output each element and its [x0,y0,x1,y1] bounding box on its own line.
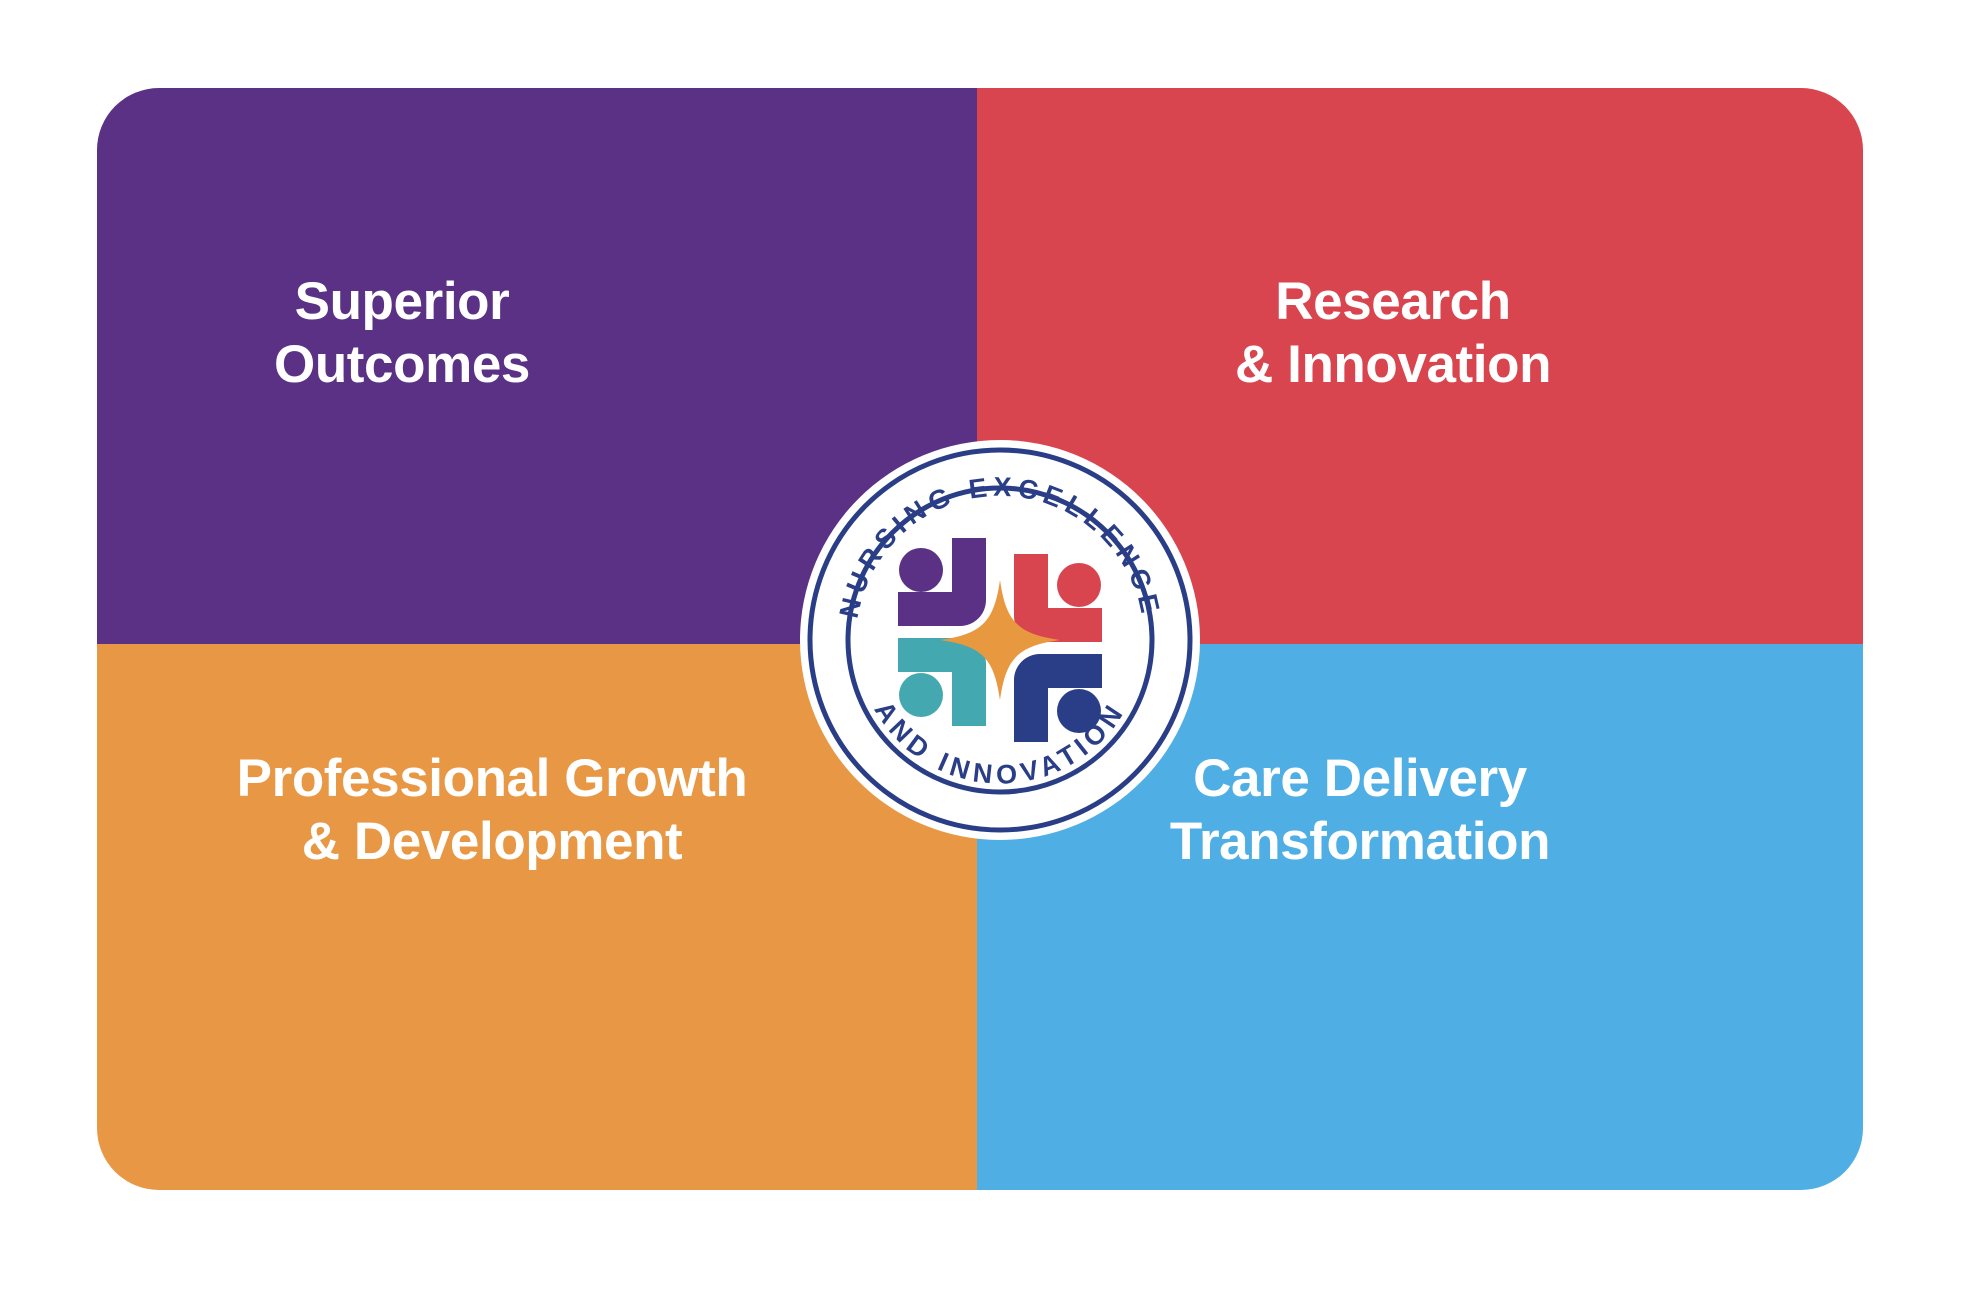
graphic-canvas: Superior Outcomes Research & Innovation … [0,0,1972,1304]
quadrant-label-research-innovation: Research & Innovation [1083,271,1703,396]
nursing-excellence-seal-logo: NURSING EXCELLENCE AND INNOVATION [800,440,1200,840]
quadrant-label-superior-outcomes: Superior Outcomes [122,271,682,396]
quadrant-label-professional-growth-development: Professional Growth & Development [97,748,887,873]
